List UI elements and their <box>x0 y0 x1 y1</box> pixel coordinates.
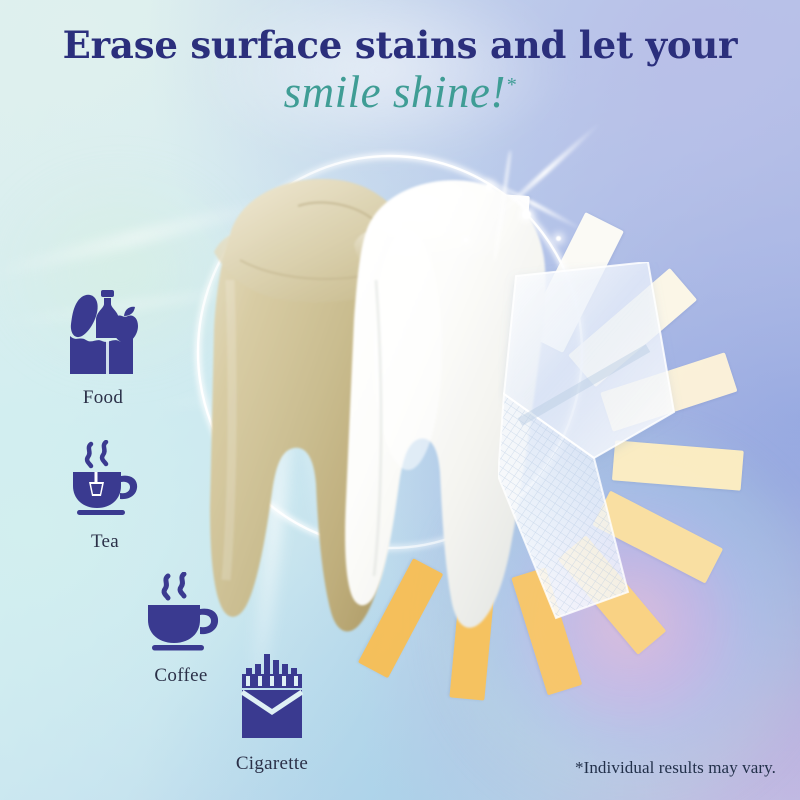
stain-label: Tea <box>46 531 164 553</box>
stain-source-tea[interactable]: Tea <box>46 440 164 553</box>
headline-line-2-text: smile shine! <box>284 67 506 117</box>
sparkle-dot-icon <box>556 236 561 241</box>
cigarette-pack-icon <box>234 652 310 744</box>
coffee-cup-icon <box>138 572 224 656</box>
whitening-strip <box>498 262 708 622</box>
headline-line-2: smile shine!* <box>0 69 800 116</box>
whitening-strip-shape <box>498 262 708 622</box>
tea-cup-icon <box>65 440 145 522</box>
stain-source-cigarette[interactable]: Cigarette <box>208 652 336 775</box>
headline-line-1: Erase surface stains and let your <box>0 26 800 65</box>
stain-label: Food <box>44 387 162 409</box>
footnote-disclaimer: *Individual results may vary. <box>575 758 776 778</box>
stain-source-food[interactable]: Food <box>44 286 162 409</box>
asterisk-marker: * <box>506 74 517 96</box>
promo-graphic: Erase surface stains and let your smile … <box>0 0 800 800</box>
sparkle-dot-icon <box>486 184 492 190</box>
sparkle-dot-icon <box>522 210 531 219</box>
stain-label: Cigarette <box>208 753 336 775</box>
headline-block: Erase surface stains and let your smile … <box>0 26 800 116</box>
grocery-bag-icon <box>62 286 144 378</box>
sparkle-dot-icon <box>464 238 468 242</box>
